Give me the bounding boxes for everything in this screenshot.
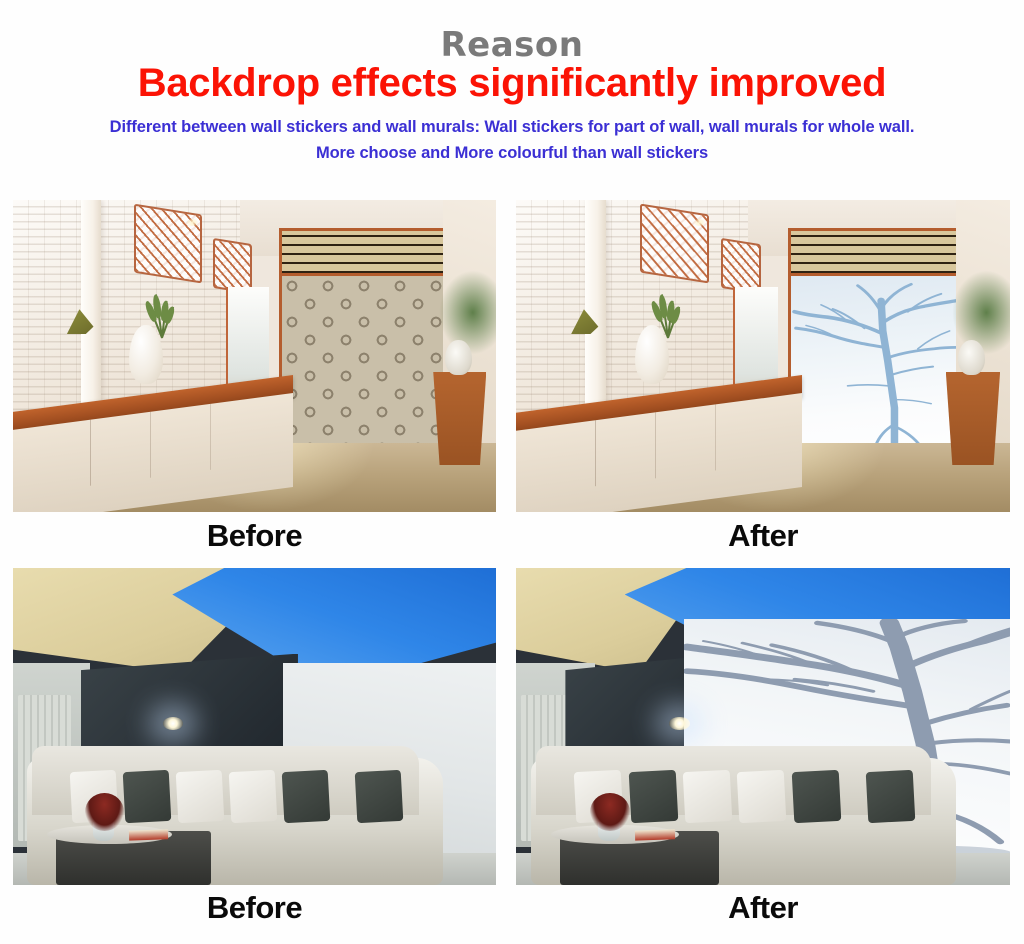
caption-living-before: Before: [13, 890, 496, 926]
side-table: [946, 372, 1000, 466]
decor-object: [445, 340, 472, 374]
photo-living-before: [13, 568, 496, 885]
side-table: [433, 372, 486, 466]
lattice-panel-small: [721, 237, 761, 293]
cushion: [176, 770, 224, 823]
cushion: [628, 770, 678, 823]
cushion: [683, 770, 733, 823]
living-scene-before: [13, 568, 496, 885]
cushion: [865, 770, 915, 823]
photo-hallway-before: [13, 200, 496, 512]
flower-bouquet: [85, 793, 124, 831]
ceiling-spotlight-icon: [694, 219, 705, 226]
photo-living-after: [516, 568, 1010, 885]
foliage: [438, 269, 496, 356]
potted-plant: [652, 294, 687, 338]
hallway-scene-after: [516, 200, 1010, 512]
promo-page: Reason Backdrop effects significantly im…: [0, 0, 1024, 944]
lattice-panel-large: [134, 204, 202, 283]
book: [634, 829, 674, 840]
comparison-grid: Before: [0, 0, 1024, 944]
hallway-scene-before: [13, 200, 496, 512]
book: [129, 829, 168, 840]
caption-hallway-after: After: [516, 518, 1010, 554]
cushion: [229, 770, 277, 823]
flower-bouquet: [590, 793, 630, 831]
lattice-transom: [282, 231, 445, 276]
cushion: [355, 770, 403, 823]
cushion: [791, 770, 841, 823]
cushion: [123, 770, 171, 823]
feature-wall-frame: [788, 228, 961, 471]
caption-living-after: After: [516, 890, 1010, 926]
potted-plant: [146, 294, 180, 338]
living-scene-after: [516, 568, 1010, 885]
lattice-panel-small: [213, 237, 252, 293]
tree-mural-graphic: [791, 276, 958, 468]
foliage: [951, 269, 1010, 356]
lattice-panel-large: [640, 204, 709, 284]
tree-mural: [791, 276, 958, 468]
patterned-wallpaper: [282, 276, 445, 468]
cushion: [282, 770, 330, 823]
feature-wall-frame: [279, 228, 448, 471]
lattice-transom: [791, 231, 958, 276]
cushion: [737, 770, 787, 823]
caption-hallway-before: Before: [13, 518, 496, 554]
ceiling-spotlight-icon: [187, 219, 198, 226]
photo-hallway-after: [516, 200, 1010, 512]
decor-object: [958, 340, 985, 374]
